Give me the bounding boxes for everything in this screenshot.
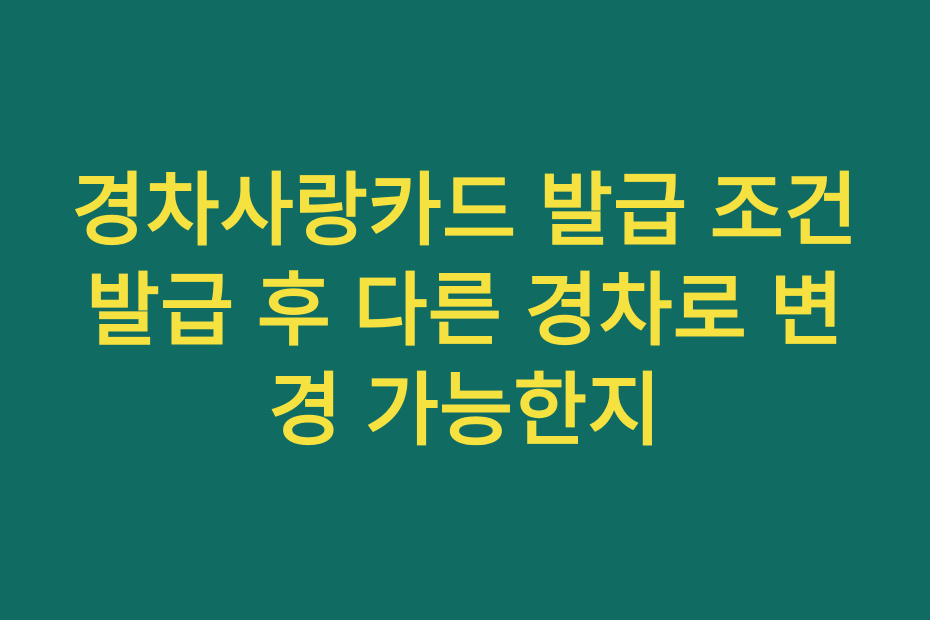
headline-line-3: 경 가능한지: [8, 361, 922, 461]
headline-text-block: 경차사랑카드 발급 조건 발급 후 다른 경차로 변 경 가능한지: [0, 161, 930, 461]
thumbnail-canvas: 경차사랑카드 발급 조건 발급 후 다른 경차로 변 경 가능한지: [0, 0, 930, 620]
headline-line-2: 발급 후 다른 경차로 변: [8, 261, 922, 361]
headline-line-1: 경차사랑카드 발급 조건: [8, 161, 922, 261]
